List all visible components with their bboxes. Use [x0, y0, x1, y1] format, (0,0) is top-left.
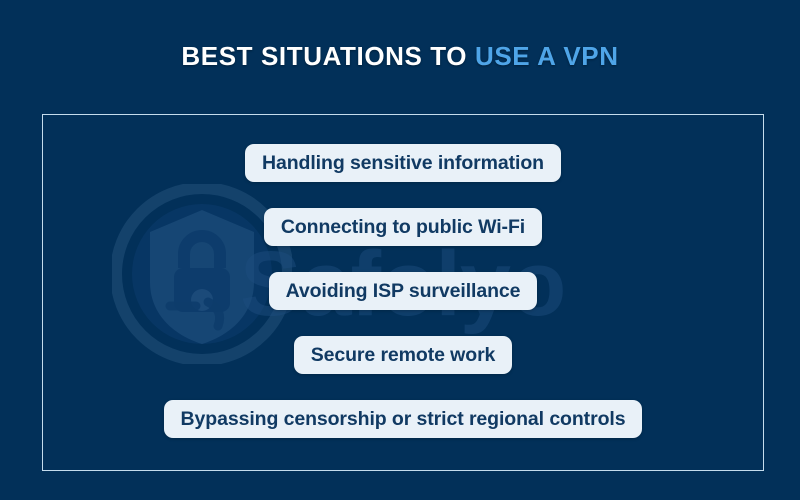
situations-list: Handling sensitive information Connectin…	[42, 114, 764, 471]
list-item: Bypassing censorship or strict regional …	[164, 400, 643, 438]
situation-label: Avoiding ISP surveillance	[286, 280, 521, 303]
list-item: Secure remote work	[294, 336, 513, 374]
situation-label: Bypassing censorship or strict regional …	[181, 408, 626, 431]
title-text: BEST SITUATIONS TO USE A VPN	[181, 42, 618, 71]
situation-label: Handling sensitive information	[262, 152, 544, 175]
situation-label: Connecting to public Wi-Fi	[281, 216, 525, 239]
situation-label: Secure remote work	[311, 344, 496, 367]
list-item: Connecting to public Wi-Fi	[264, 208, 542, 246]
page-title: BEST SITUATIONS TO USE A VPN	[0, 42, 800, 71]
title-accent: USE A VPN	[475, 41, 619, 71]
vpn-situations-infographic: Safolyo BEST SITUATIONS TO USE A VPN Han…	[0, 0, 800, 500]
title-main: BEST SITUATIONS TO	[181, 41, 475, 71]
list-item: Handling sensitive information	[245, 144, 561, 182]
list-item: Avoiding ISP surveillance	[269, 272, 538, 310]
